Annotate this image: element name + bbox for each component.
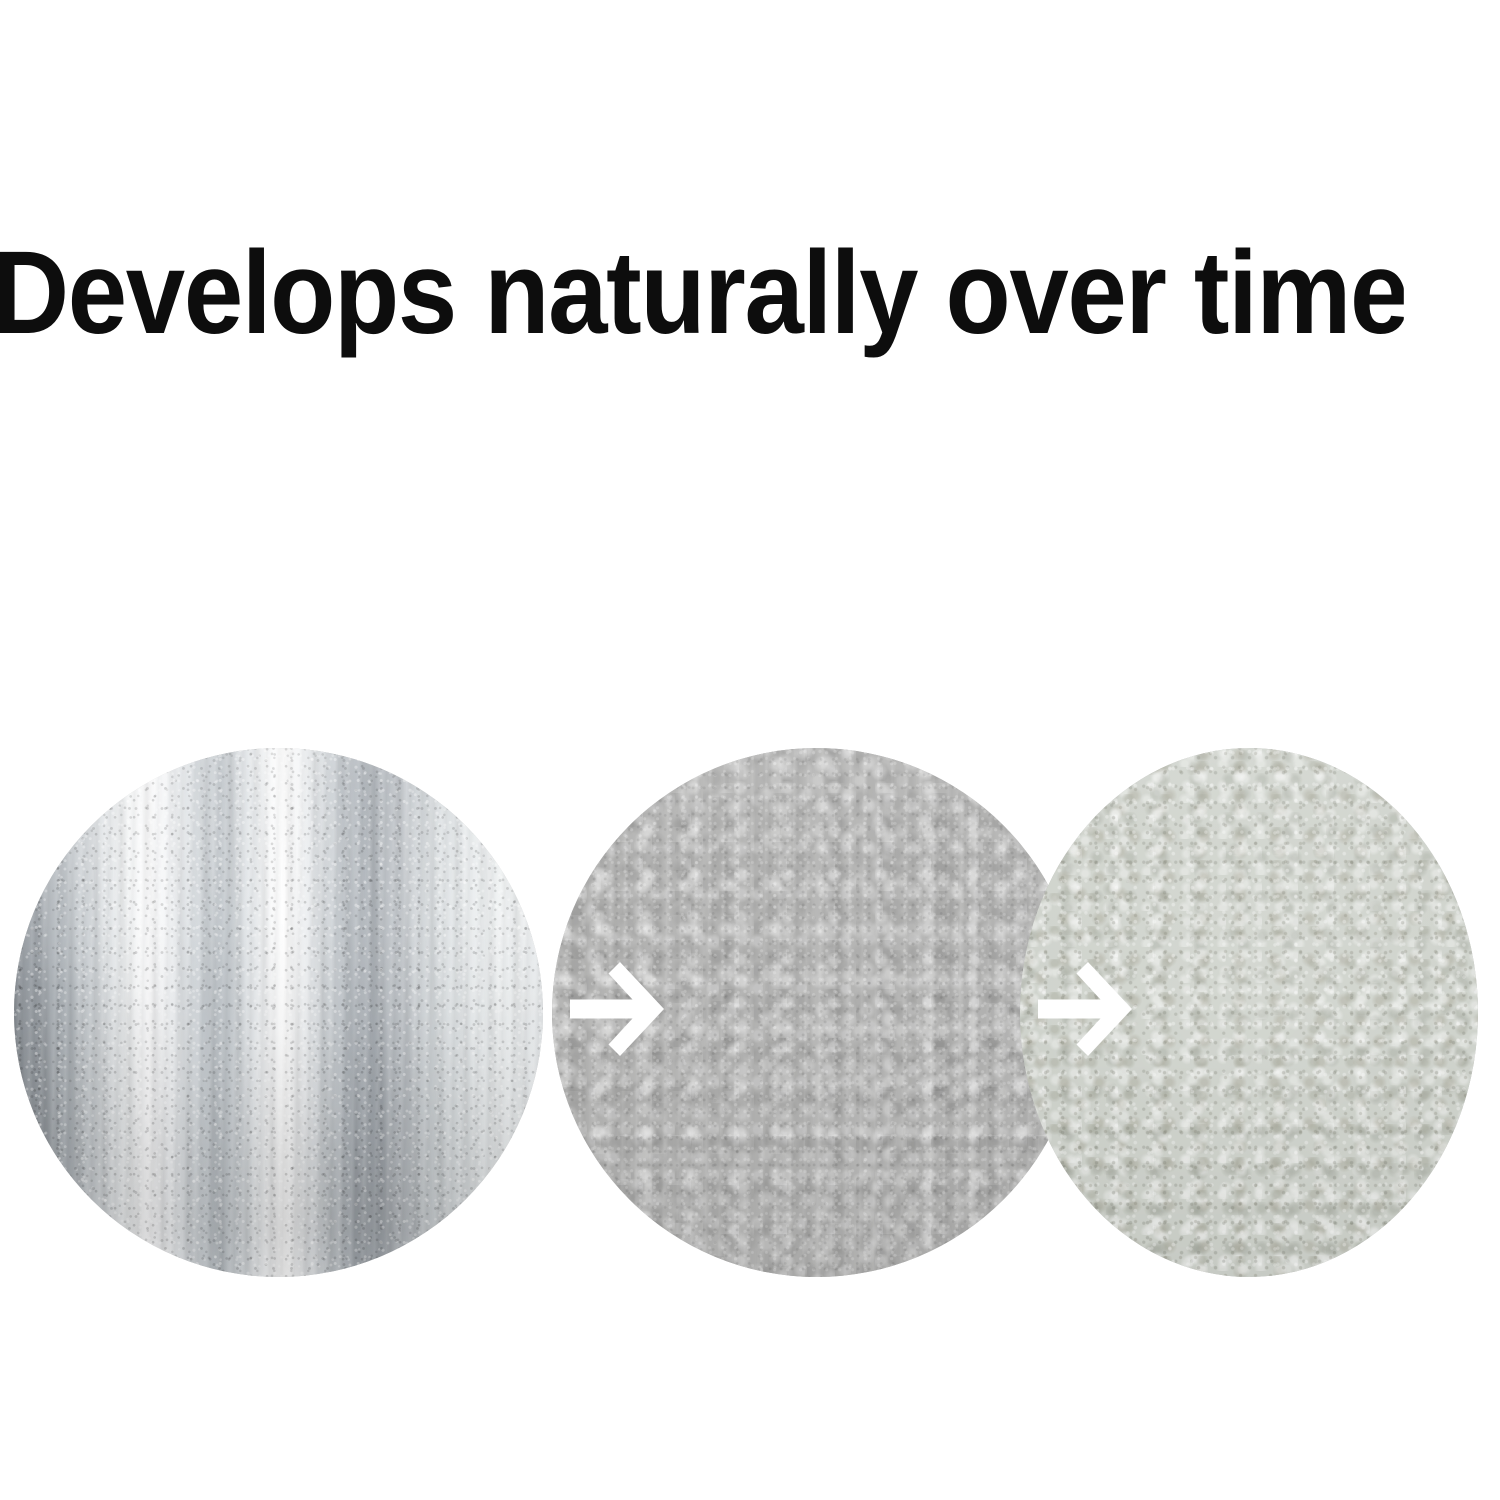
arrow-right-icon: [1038, 960, 1134, 1058]
stage-1-shading: [14, 748, 543, 1277]
slide-canvas: Develops naturally over time: [0, 0, 1500, 1500]
arrow-right-icon: [570, 960, 666, 1058]
process-diagram: [0, 0, 1500, 1500]
stage-1-circle: [14, 748, 543, 1277]
